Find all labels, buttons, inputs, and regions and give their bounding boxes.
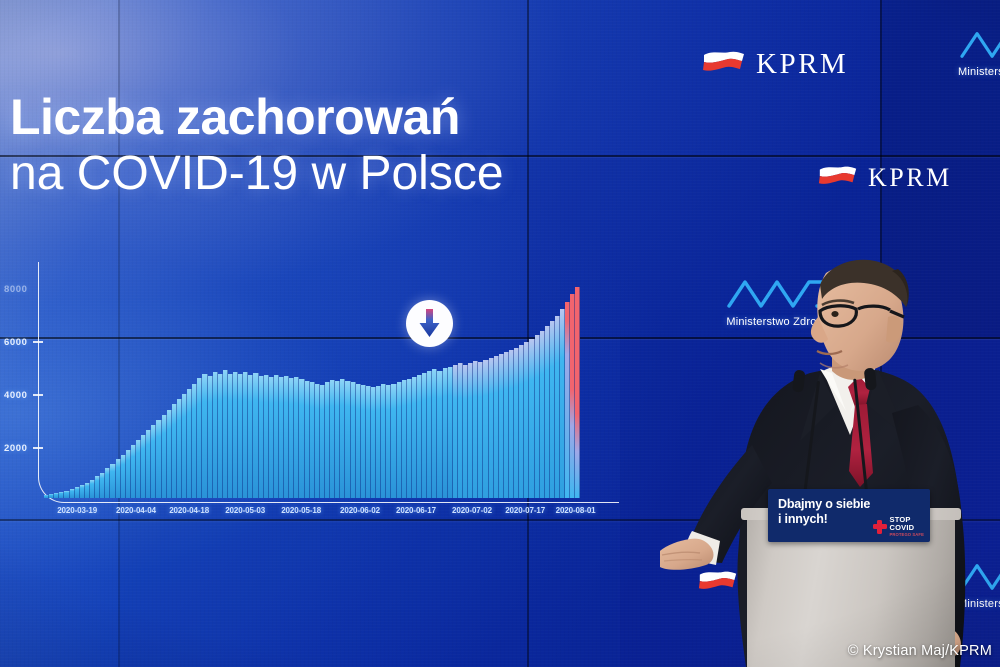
chart-bars	[44, 282, 580, 498]
microphone-right-head	[864, 368, 877, 391]
kprm-logo-top: KPRM	[702, 48, 848, 81]
photo-credit: © Krystian Maj/KPRM	[848, 643, 992, 659]
y-tick-mark-4000	[33, 394, 43, 396]
stop-covid-title2: COVID	[890, 524, 924, 532]
x-tick-label: 2020-04-18	[169, 506, 209, 515]
mz-zigzag-icon	[958, 28, 1000, 60]
x-tick-label: 2020-03-19	[57, 506, 97, 515]
podium-sign: Dbajmy o siebie i innych! STOP COVID PRO…	[768, 489, 930, 542]
podium-slogan: Dbajmy o siebie i innych!	[778, 497, 870, 528]
y-tick-label-6000: 6000	[4, 337, 28, 348]
y-tick-mark-2000	[33, 447, 43, 449]
screenshot-root: Liczba zachorowań na COVID-19 w Polsce 8…	[0, 0, 1000, 667]
y-tick-label-8000: 8000	[4, 284, 28, 295]
ministry-label-topright: Ministerstwo Zdrowia	[958, 66, 1000, 78]
y-tick-mark-6000	[33, 341, 43, 343]
download-arrow-icon[interactable]	[406, 300, 453, 347]
stop-covid-cross-icon	[873, 520, 887, 534]
kprm-logo-mid: KPRM	[818, 163, 952, 193]
title-line-1: Liczba zachorowań	[10, 92, 630, 142]
polish-flag-icon	[818, 163, 858, 193]
covid-cases-chart: 8000 6000 4000 2000 2020-03-192020-04-04…	[0, 258, 640, 526]
x-tick-label: 2020-05-18	[281, 506, 321, 515]
stop-covid-subtitle: PROTEGO SAFE	[890, 532, 924, 537]
x-tick-label: 2020-07-17	[505, 506, 545, 515]
y-tick-label-2000: 2000	[4, 443, 28, 454]
chart-bar	[575, 287, 580, 498]
polish-flag-icon	[702, 48, 746, 81]
chart-x-axis-labels: 2020-03-192020-04-042020-04-182020-05-03…	[0, 506, 640, 522]
podium-slogan-line-1: Dbajmy o siebie	[778, 497, 870, 512]
y-tick-label-4000: 4000	[4, 390, 28, 401]
podium-slogan-line-2: i innych!	[778, 512, 870, 527]
x-tick-label: 2020-04-04	[116, 506, 156, 515]
x-tick-label: 2020-06-02	[340, 506, 380, 515]
x-tick-label: 2020-06-17	[396, 506, 436, 515]
x-tick-label: 2020-08-01	[556, 506, 596, 515]
stop-covid-badge: STOP COVID PROTEGO SAFE	[873, 516, 924, 537]
kprm-label-top: KPRM	[756, 48, 848, 81]
presentation-title: Liczba zachorowań na COVID-19 w Polsce	[10, 92, 630, 198]
x-tick-label: 2020-07-02	[452, 506, 492, 515]
title-line-2: na COVID-19 w Polsce	[10, 150, 630, 198]
ministry-of-health-logo-topright: Ministerstwo Zdrowia	[958, 28, 1000, 78]
kprm-label-mid: KPRM	[868, 163, 952, 193]
x-tick-label: 2020-05-03	[225, 506, 265, 515]
